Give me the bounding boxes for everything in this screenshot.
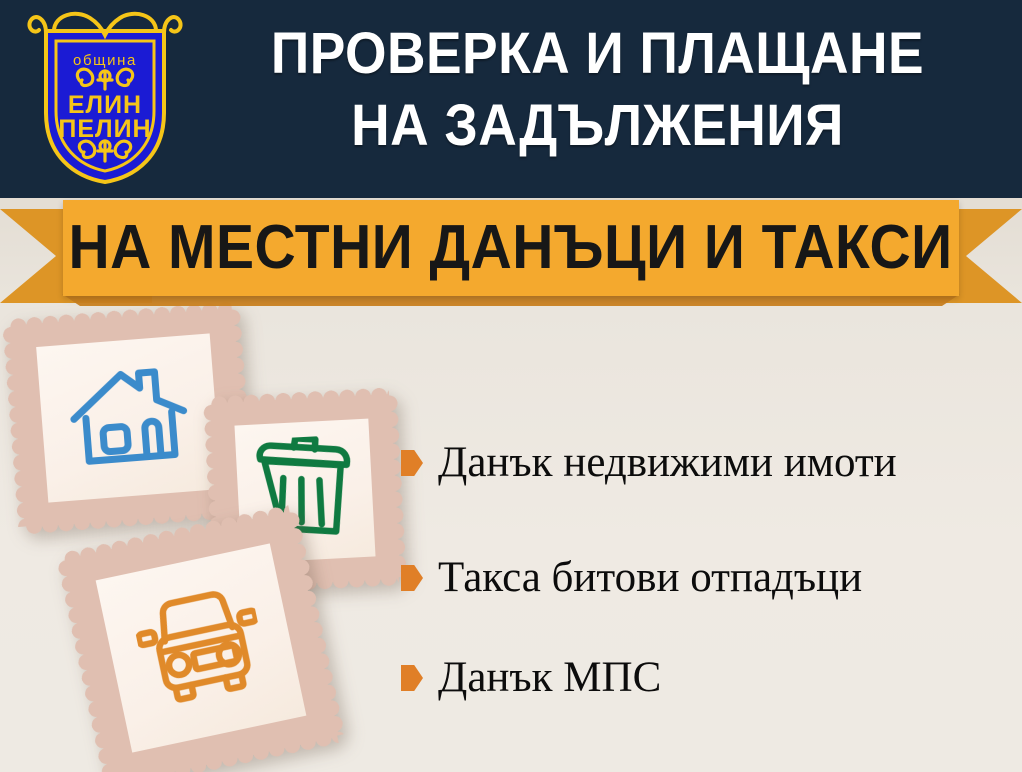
list-item[interactable]: Данък недвижими имоти — [401, 434, 1011, 492]
ribbon-body: НА МЕСТНИ ДАНЪЦИ И ТАКСИ — [63, 200, 959, 296]
stamp-edge-left — [3, 326, 35, 527]
poster-canvas: община ЕЛИН ПЕЛИН — [0, 0, 1022, 772]
header-bar: община ЕЛИН ПЕЛИН — [0, 0, 1022, 198]
elin-pelin-coat-of-arms-icon: община ЕЛИН ПЕЛИН — [24, 9, 186, 189]
list-item-label: Данък МПС — [438, 653, 661, 703]
page-title-line-1: ПРОВЕРКА И ПЛАЩАНЕ — [223, 18, 973, 90]
page-title-line-2: НА ЗАДЪЛЖЕНИЯ — [223, 90, 973, 162]
arrow-bullet-icon — [401, 565, 423, 591]
list-item-label: Данък недвижими имоти — [438, 438, 897, 488]
ribbon-banner: НА МЕСТНИ ДАНЪЦИ И ТАКСИ — [0, 198, 1022, 316]
svg-text:община: община — [73, 52, 137, 69]
ribbon-label: НА МЕСТНИ ДАНЪЦИ И ТАКСИ — [69, 215, 953, 281]
stamp-card-vehicle — [65, 513, 337, 772]
arrow-bullet-icon — [401, 450, 423, 476]
svg-text:ПЕЛИН: ПЕЛИН — [58, 115, 151, 143]
tax-type-list: Данък недвижими имоти Такса битови отпад… — [401, 430, 1011, 707]
car-icon — [130, 582, 272, 714]
list-item[interactable]: Данък МПС — [401, 649, 1011, 707]
header-title-block: ПРОВЕРКА И ПЛАЩАНЕ НА ЗАДЪЛЖЕНИЯ — [190, 18, 1005, 162]
list-item-label: Такса битови отпадъци — [438, 553, 862, 603]
house-icon — [62, 355, 197, 482]
list-item[interactable]: Такса битови отпадъци — [401, 549, 1011, 607]
arrow-bullet-icon — [401, 665, 423, 691]
